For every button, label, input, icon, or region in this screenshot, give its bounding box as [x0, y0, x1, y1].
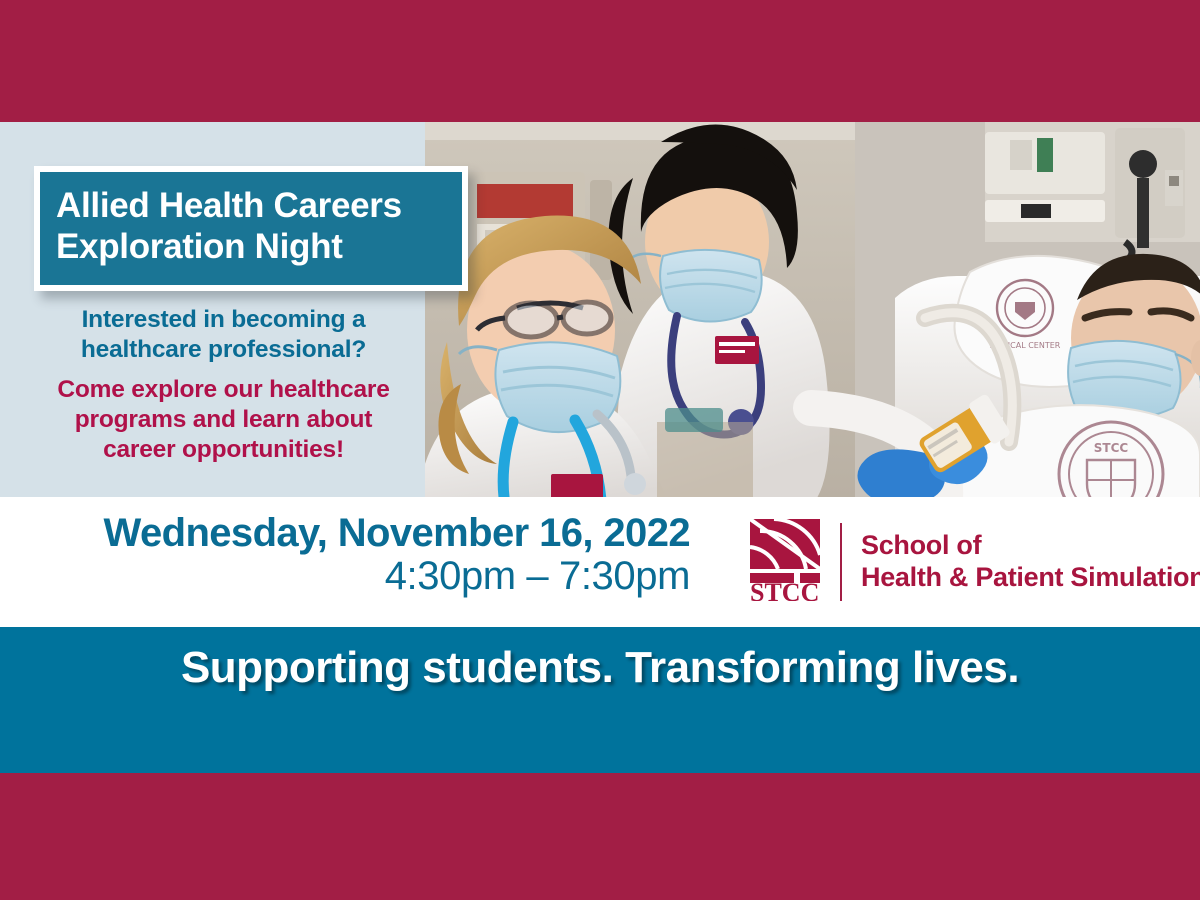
subcopy-question: Interested in becoming a healthcare prof… — [36, 305, 411, 364]
school-name-line-2: Health & Patient Simulation — [861, 562, 1200, 594]
tagline-text: Supporting students. Transforming lives. — [0, 643, 1200, 693]
event-title-line-1: Allied Health Careers — [56, 186, 446, 227]
event-datetime: Wednesday, November 16, 2022 4:30pm – 7:… — [40, 512, 690, 599]
svg-text:STCC: STCC — [1094, 441, 1129, 455]
school-name: School of Health & Patient Simulation — [861, 530, 1200, 593]
event-title-plaque: Allied Health Careers Exploration Night — [34, 166, 468, 291]
subcopy-invitation-line-2: programs and learn about — [36, 405, 411, 435]
logo-divider — [840, 523, 842, 601]
stcc-logo-lockup: STCC School of Health & Patient Simulati… — [748, 517, 1200, 606]
simulation-lab-photo: MEDICAL CENTER — [425, 122, 1200, 498]
event-date: Wednesday, November 16, 2022 — [40, 512, 690, 554]
stcc-acronym: STCC — [750, 578, 819, 601]
event-subcopy: Interested in becoming a healthcare prof… — [36, 305, 411, 464]
event-title-line-2: Exploration Night — [56, 227, 446, 268]
stcc-logo-icon: STCC — [748, 517, 822, 606]
subcopy-question-line-1: Interested in becoming a — [36, 305, 411, 335]
top-crimson-band — [0, 0, 1200, 122]
event-title-box: Allied Health Careers Exploration Night — [40, 172, 462, 285]
subcopy-question-line-2: healthcare professional? — [36, 335, 411, 365]
subcopy-invitation: Come explore our healthcare programs and… — [36, 375, 411, 464]
bottom-crimson-band — [0, 773, 1200, 900]
subcopy-invitation-line-3: career opportunities! — [36, 435, 411, 465]
event-time: 4:30pm – 7:30pm — [40, 554, 690, 599]
school-name-line-1: School of — [861, 530, 1200, 562]
subcopy-invitation-line-1: Come explore our healthcare — [36, 375, 411, 405]
flyer-canvas: MEDICAL CENTER — [0, 0, 1200, 900]
